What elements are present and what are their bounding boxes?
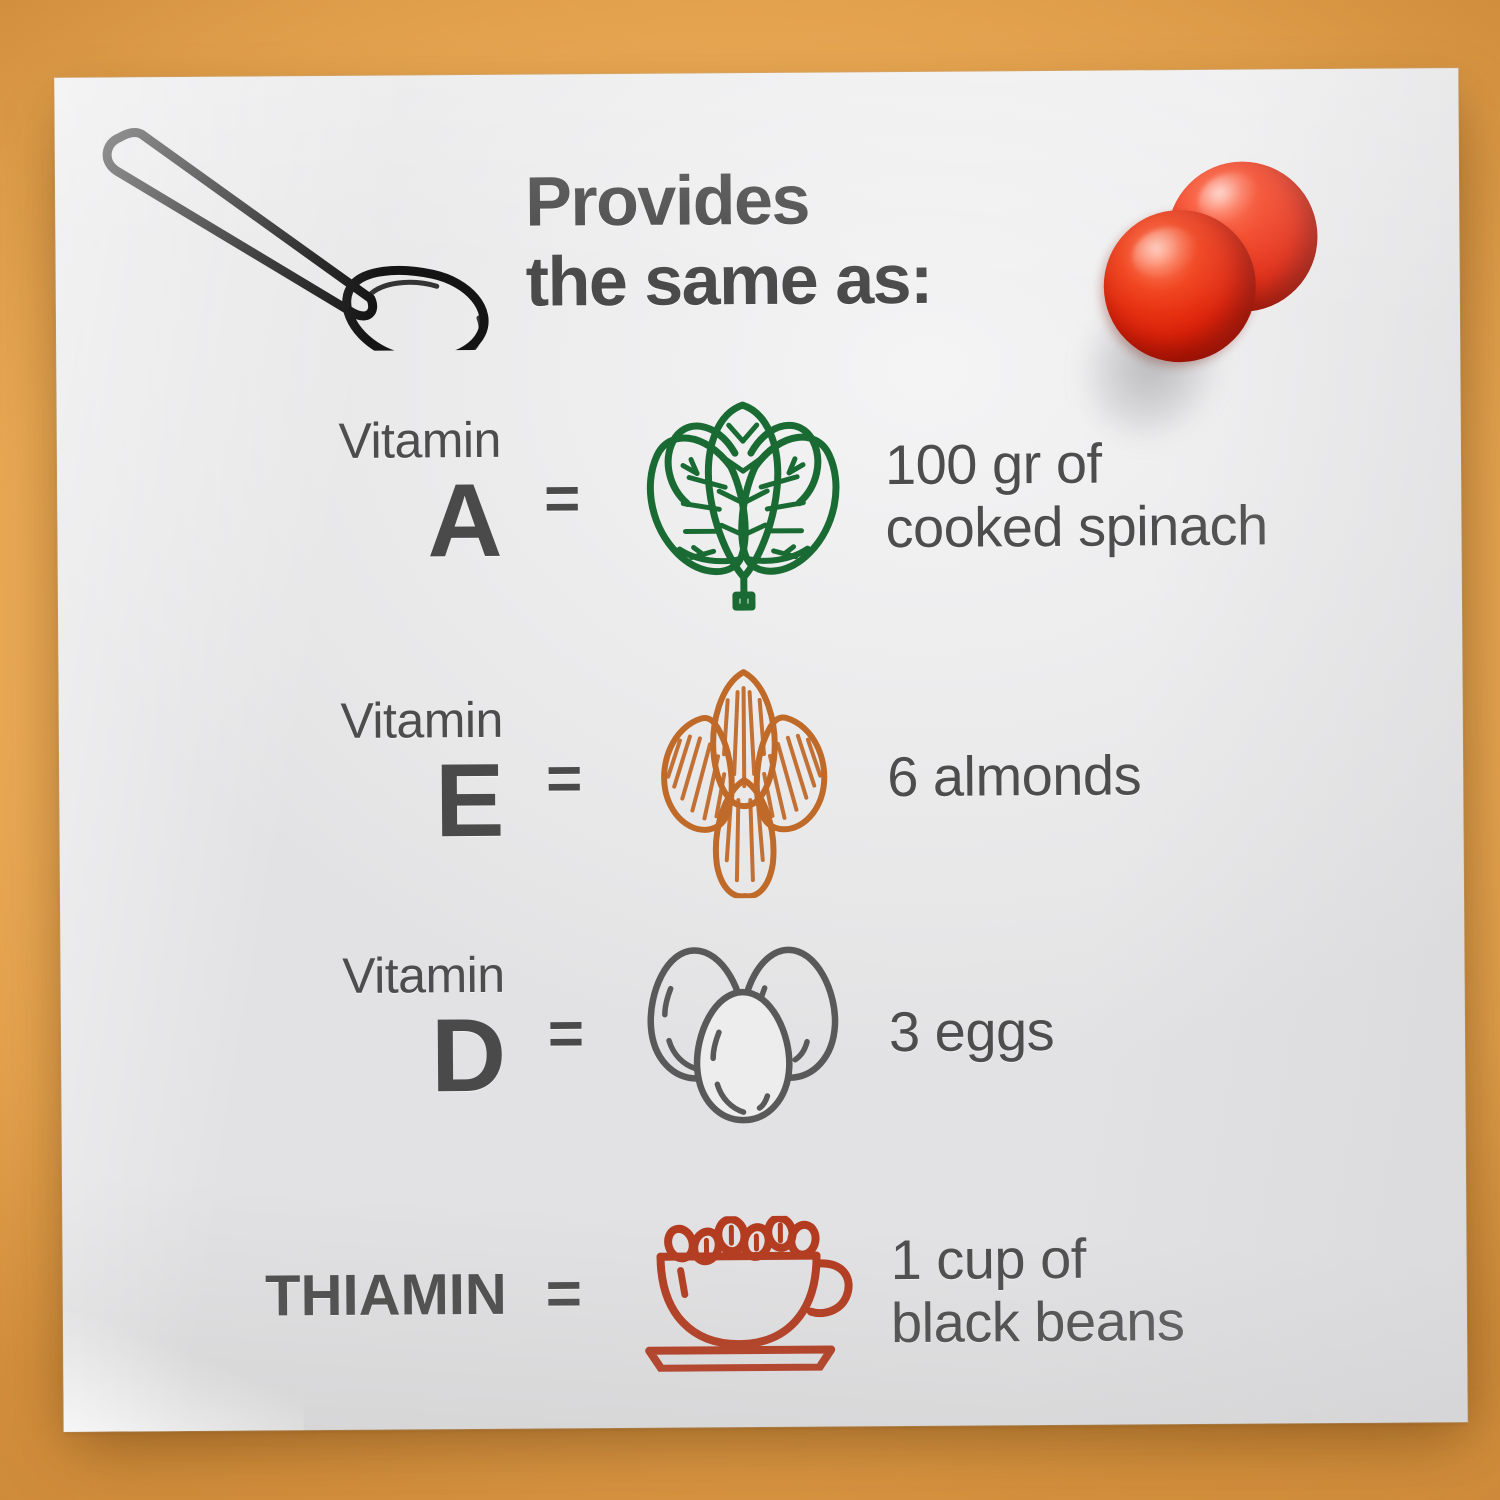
nutrient-label-vitamin-a: Vitamin A [207,413,508,576]
food-label-line-1: 100 gr of [885,430,1447,497]
food-label-vitamin-e: 6 almonds [869,742,1449,809]
equals-sign: = [509,1263,619,1326]
food-label-vitamin-d: 3 eggs [871,997,1451,1064]
food-label-line-1: 3 eggs [889,997,1451,1064]
page-title: Provides the same as: [525,158,1146,322]
food-icon-slot [618,657,870,899]
food-label-line-2: cooked spinach [885,493,1447,560]
nutrient-letter: E [209,748,504,856]
nutrient-label-thiamin: THIAMIN [213,1266,513,1326]
headline-line-1: Provides [525,158,1146,242]
nutrient-name: THIAMIN [213,1266,507,1326]
food-icon-slot [622,1215,873,1372]
nutrient-row-thiamin: THIAMIN = [212,1193,1453,1392]
nutrient-letter: A [207,468,502,576]
equals-sign: = [509,748,619,811]
nutrient-row-vitamin-a: Vitamin A = [206,378,1448,617]
food-label-line-2: black beans [891,1288,1453,1355]
paper-content: Provides the same as: Vitamin A = [54,68,1467,1432]
nutrient-word: Vitamin [210,948,504,1003]
nutrient-word: Vitamin [207,414,501,469]
food-label-line-1: 1 cup of [890,1225,1452,1292]
spoon-icon [79,100,511,353]
equals-sign: = [507,468,617,531]
food-label-line-1: 6 almonds [887,742,1449,809]
nutrient-letter: D [211,1003,506,1111]
food-icon-slot [616,380,868,617]
cup-of-beans-icon [640,1215,856,1371]
food-label-vitamin-a: 100 gr of cooked spinach [867,430,1448,559]
nutrient-label-vitamin-d: Vitamin D [210,948,511,1111]
food-label-thiamin: 1 cup of black beans [872,1225,1453,1354]
eggs-icon [638,935,854,1131]
spinach-icon [634,380,851,616]
food-icon-slot [620,935,871,1132]
nutrient-row-vitamin-d: Vitamin D = [210,923,1451,1142]
almonds-icon [643,657,845,898]
nutrient-word: Vitamin [209,694,503,749]
equals-sign: = [511,1003,621,1066]
paper-note: Provides the same as: Vitamin A = [54,68,1467,1432]
headline-line-2: the same as: [525,238,1146,322]
nutrient-label-vitamin-e: Vitamin E [209,693,510,856]
nutrient-row-vitamin-e: Vitamin E = [208,658,1450,897]
